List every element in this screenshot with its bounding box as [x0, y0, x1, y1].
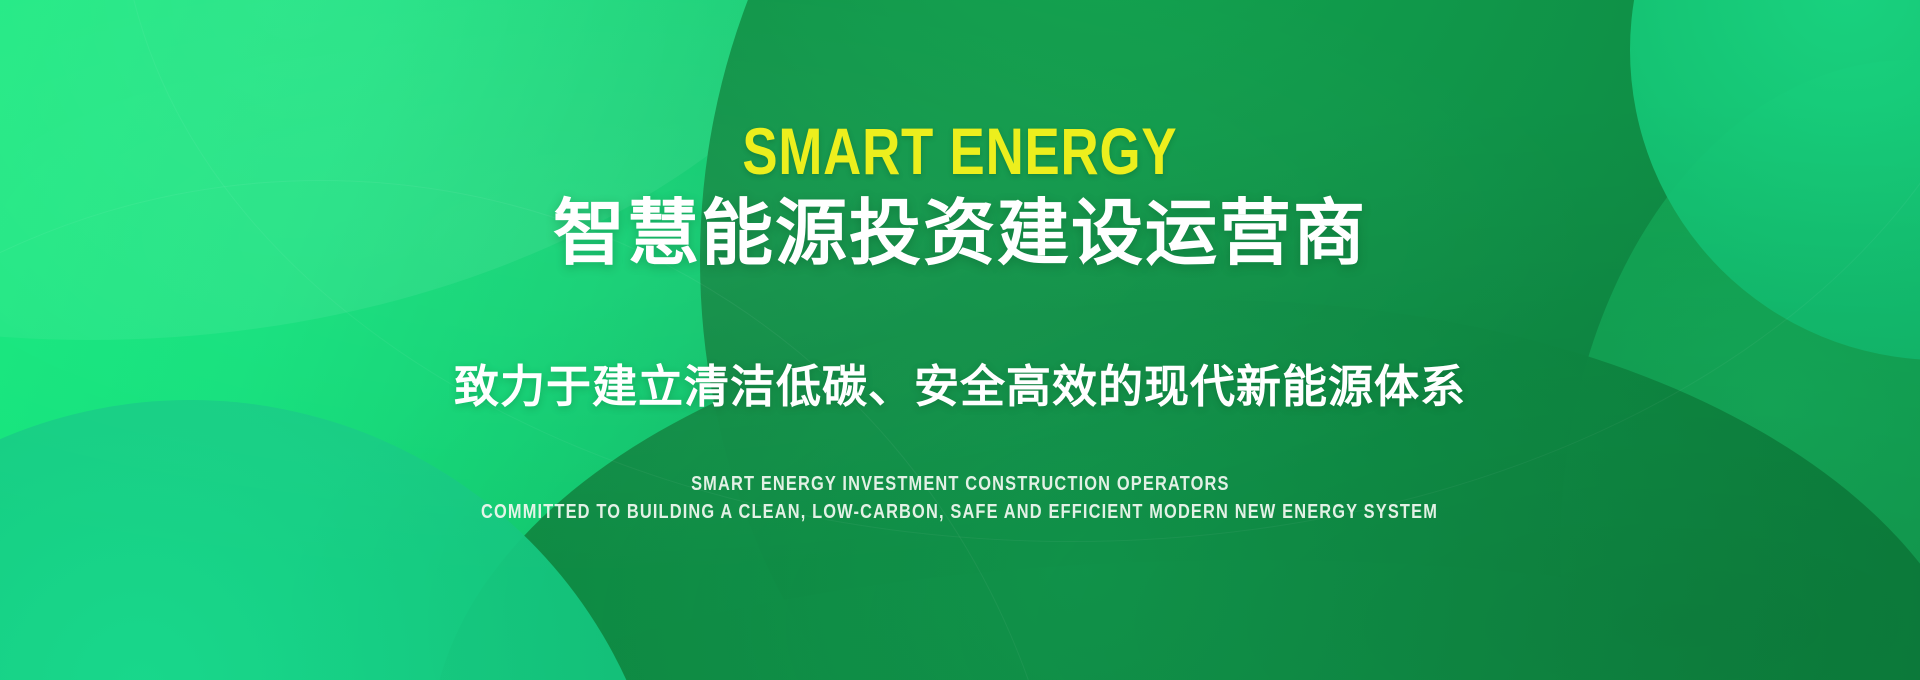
page-title: 智慧能源投资建设运营商	[553, 196, 1367, 274]
hero-banner: SMART ENERGY 智慧能源投资建设运营商 致力于建立清洁低碳、安全高效的…	[0, 0, 1920, 680]
banner-english-block: SMART ENERGY INVESTMENT CONSTRUCTION OPE…	[376, 473, 1543, 524]
banner-content: SMART ENERGY 智慧能源投资建设运营商 致力于建立清洁低碳、安全高效的…	[0, 0, 1920, 680]
banner-english-line-2: COMMITTED TO BUILDING A CLEAN, LOW-CARBO…	[482, 501, 1439, 524]
banner-english-line-1: SMART ENERGY INVESTMENT CONSTRUCTION OPE…	[691, 473, 1229, 496]
banner-subtitle: 致力于建立清洁低碳、安全高效的现代新能源体系	[454, 362, 1466, 412]
banner-kicker: SMART ENERGY	[743, 118, 1178, 184]
